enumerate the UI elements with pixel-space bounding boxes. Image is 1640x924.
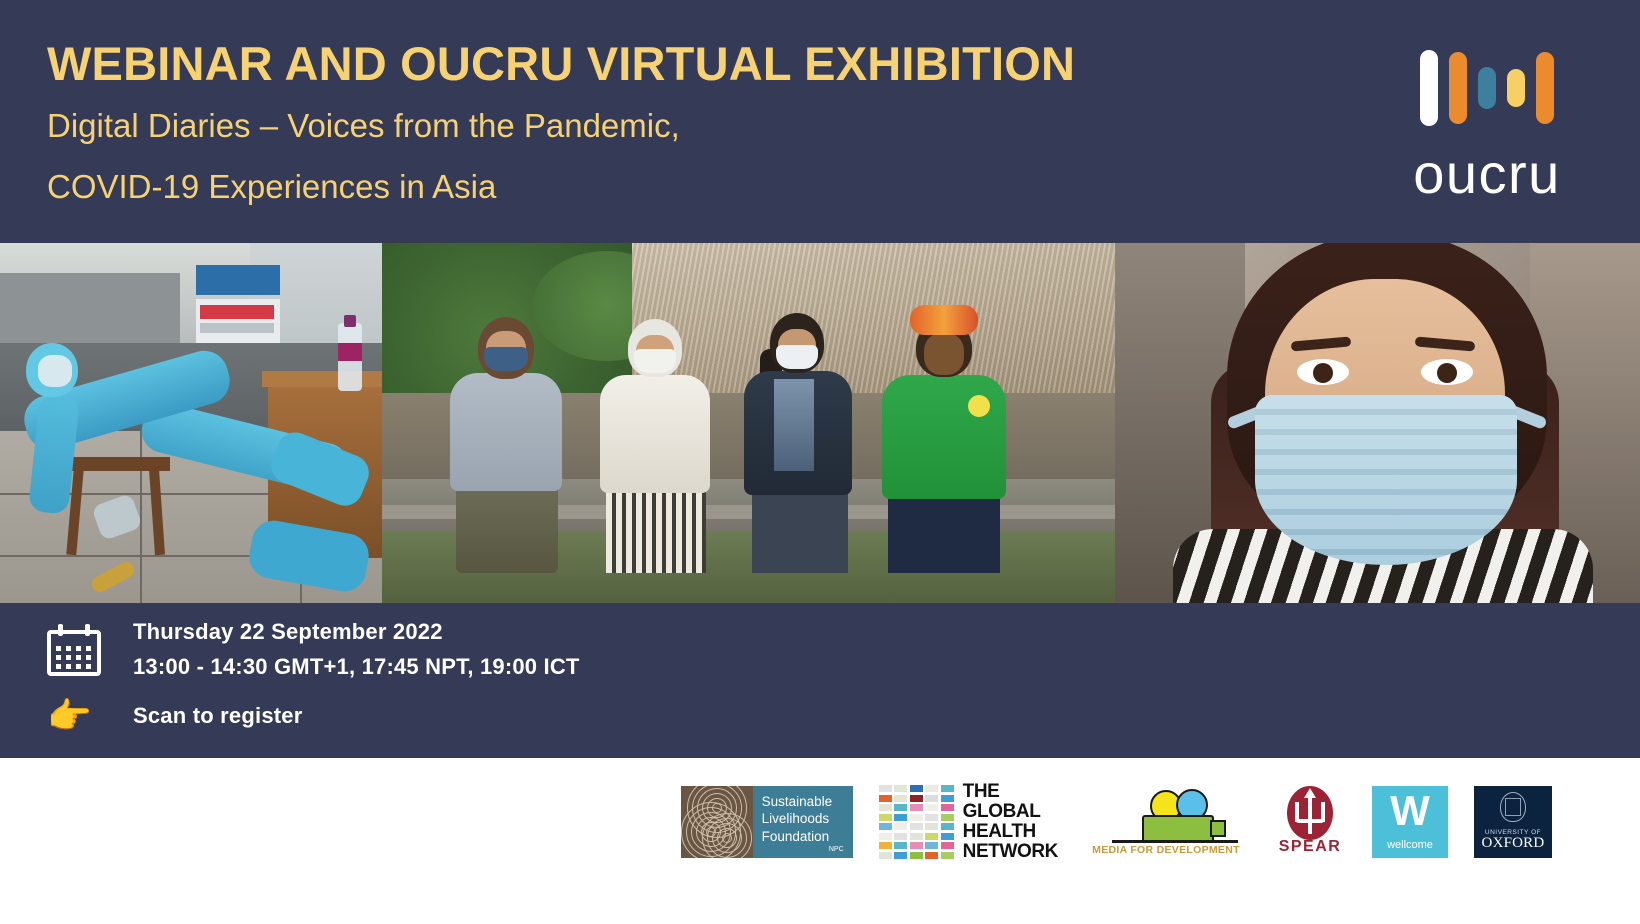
- tghn-mosaic-cell: [910, 804, 923, 811]
- tghn-mosaic-cell: [910, 842, 923, 849]
- wellcome-wordmark: wellcome: [1372, 839, 1448, 851]
- tghn-line-4: NETWORK: [963, 842, 1058, 862]
- tghn-mosaic-cell: [941, 823, 954, 830]
- event-info: Thursday 22 September 2022 13:00 - 14:30…: [47, 619, 580, 734]
- tghn-mosaic-cell: [894, 823, 907, 830]
- calendar-icon: [47, 624, 101, 676]
- subtitle-line-1: Digital Diaries – Voices from the Pandem…: [47, 101, 1247, 151]
- wellcome-w-icon: W: [1372, 790, 1448, 832]
- tghn-mosaic-cell: [925, 833, 938, 840]
- tghn-mosaic-cell: [879, 833, 892, 840]
- pointing-hand-icon: 👉: [47, 698, 92, 734]
- slf-line-2: Livelihoods: [762, 810, 844, 827]
- tghn-mosaic-cell: [894, 814, 907, 821]
- scan-to-register-label: Scan to register: [133, 703, 302, 729]
- tghn-mosaic-cell: [879, 785, 892, 792]
- oucru-bars-icon: [1382, 42, 1592, 134]
- webinar-poster: WEBINAR AND OUCRU VIRTUAL EXHIBITION Dig…: [0, 0, 1640, 924]
- oucru-bar-1: [1420, 50, 1438, 126]
- tghn-wordmark: THE GLOBAL HEALTH NETWORK: [963, 782, 1058, 862]
- slf-line-3: Foundation: [762, 828, 844, 845]
- oucru-wordmark: oucru: [1382, 146, 1592, 202]
- tghn-mosaic-cell: [925, 814, 938, 821]
- tghn-mosaic-cell: [925, 795, 938, 802]
- page-title: WEBINAR AND OUCRU VIRTUAL EXHIBITION: [47, 36, 1247, 91]
- slf-fingerprint-icon: [681, 786, 753, 858]
- tghn-mosaic-cell: [941, 795, 954, 802]
- oucru-bar-4: [1507, 69, 1525, 107]
- photo-group-by-hut: [382, 243, 1115, 603]
- tghn-mosaic-cell: [941, 785, 954, 792]
- tghn-mosaic-cell: [879, 814, 892, 821]
- tghn-mosaic-cell: [925, 823, 938, 830]
- tghn-mosaic-cell: [894, 833, 907, 840]
- partner-logo-footer: Sustainable Livelihoods Foundation NPC T…: [0, 758, 1640, 924]
- slf-suffix: NPC: [762, 846, 844, 853]
- tghn-mosaic-cell: [941, 814, 954, 821]
- tghn-mosaic-cell: [879, 804, 892, 811]
- logo-university-of-oxford: UNIVERSITY OF OXFORD: [1474, 786, 1552, 858]
- camera-lens-icon: [1210, 820, 1226, 837]
- tghn-mosaic-cell: [879, 842, 892, 849]
- oxford-line-2: OXFORD: [1474, 835, 1552, 852]
- tghn-mosaic-cell: [910, 833, 923, 840]
- tghn-mosaic-cell: [941, 804, 954, 811]
- tghn-line-2: GLOBAL: [963, 802, 1058, 822]
- photo-masked-woman: [1115, 243, 1640, 603]
- tghn-mosaic-cell: [910, 785, 923, 792]
- photo-health-worker: [0, 243, 382, 603]
- event-time: 13:00 - 14:30 GMT+1, 17:45 NPT, 19:00 IC…: [133, 654, 580, 680]
- slf-line-1: Sustainable: [762, 793, 844, 810]
- movie-camera-icon: [1142, 815, 1214, 843]
- tghn-mosaic-cell: [910, 814, 923, 821]
- tghn-mosaic-cell: [894, 852, 907, 859]
- spear-wordmark: SPEAR: [1274, 838, 1346, 856]
- logo-sustainable-livelihoods-foundation: Sustainable Livelihoods Foundation NPC: [681, 786, 853, 858]
- scan-to-register-row: 👉 Scan to register: [47, 698, 580, 734]
- oucru-bar-2: [1449, 52, 1467, 124]
- tghn-mosaic-cell: [941, 833, 954, 840]
- logo-media-for-development: MEDIA FOR DEVELOPMENT: [1084, 786, 1248, 858]
- tghn-line-3: HEALTH: [963, 822, 1058, 842]
- event-details-bar: Thursday 22 September 2022 13:00 - 14:30…: [0, 603, 1640, 758]
- logo-spear: SPEAR: [1274, 786, 1346, 858]
- tghn-mosaic-cell: [879, 852, 892, 859]
- oucru-bar-5: [1536, 52, 1554, 124]
- oucru-bar-3: [1478, 67, 1496, 109]
- tghn-mosaic-cell: [925, 842, 938, 849]
- tghn-mosaic-cell: [894, 785, 907, 792]
- tghn-mosaic-cell: [941, 842, 954, 849]
- partner-logos: Sustainable Livelihoods Foundation NPC T…: [681, 786, 1552, 858]
- tghn-mosaic-cell: [910, 823, 923, 830]
- header-text-block: WEBINAR AND OUCRU VIRTUAL EXHIBITION Dig…: [47, 36, 1247, 212]
- tghn-mosaic-icon: [879, 785, 954, 859]
- subtitle-line-2: COVID-19 Experiences in Asia: [47, 162, 1247, 212]
- tghn-mosaic-cell: [910, 795, 923, 802]
- tghn-mosaic-cell: [894, 804, 907, 811]
- tghn-mosaic-cell: [925, 804, 938, 811]
- event-datetime-row: Thursday 22 September 2022 13:00 - 14:30…: [47, 619, 580, 680]
- tghn-mosaic-cell: [894, 842, 907, 849]
- tghn-mosaic-cell: [925, 785, 938, 792]
- tghn-mosaic-cell: [941, 852, 954, 859]
- tghn-line-1: THE: [963, 782, 1058, 802]
- tghn-mosaic-cell: [879, 795, 892, 802]
- tghn-mosaic-cell: [879, 823, 892, 830]
- oucru-logo: oucru: [1382, 42, 1592, 207]
- event-date: Thursday 22 September 2022: [133, 619, 580, 645]
- poster-header: WEBINAR AND OUCRU VIRTUAL EXHIBITION Dig…: [0, 0, 1640, 243]
- logo-the-global-health-network: THE GLOBAL HEALTH NETWORK: [879, 786, 1058, 858]
- tghn-mosaic-cell: [910, 852, 923, 859]
- tghn-mosaic-cell: [894, 795, 907, 802]
- photo-strip: [0, 243, 1640, 603]
- logo-wellcome: W wellcome: [1372, 786, 1448, 858]
- mfd-caption: MEDIA FOR DEVELOPMENT: [1084, 844, 1248, 856]
- tghn-mosaic-cell: [925, 852, 938, 859]
